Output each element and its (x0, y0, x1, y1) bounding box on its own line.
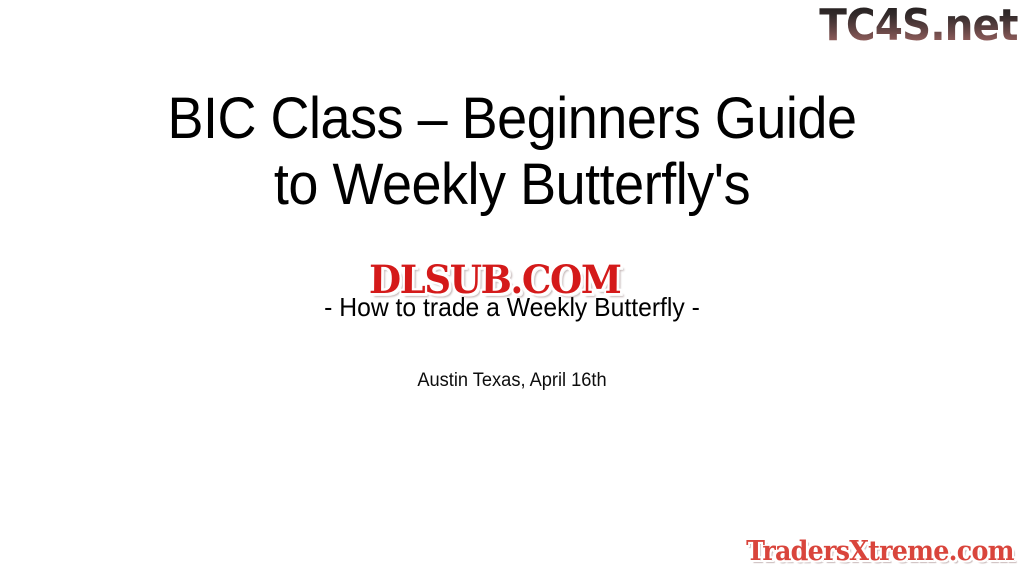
slide-dateline: Austin Texas, April 16th (20, 369, 1003, 393)
dlsub-watermark-logo: DLSUB.COM (369, 258, 621, 302)
tradersxtreme-watermark-logo: TradersXtreme.com (746, 536, 1014, 568)
slide-title-line-2: to Weekly Butterfly's (36, 152, 988, 218)
slide-title-line-1: BIC Class – Beginners Guide (36, 86, 988, 152)
presentation-slide: BIC Class – Beginners Guide to Weekly Bu… (0, 0, 1024, 576)
slide-title: BIC Class – Beginners Guide to Weekly Bu… (0, 86, 1024, 218)
tc4s-watermark-logo: TC4S.net (820, 1, 1018, 51)
